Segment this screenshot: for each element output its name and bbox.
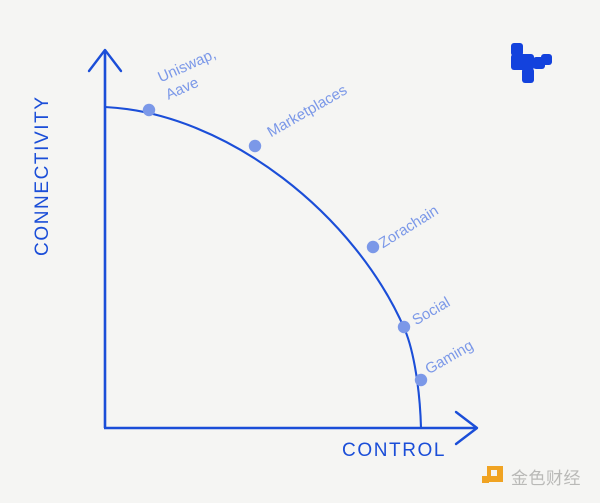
logo-block-5	[522, 68, 534, 83]
data-point	[367, 241, 379, 253]
watermark: 金色财经	[481, 464, 581, 489]
watermark-square-small	[482, 476, 489, 483]
watermark-text: 金色财经	[511, 464, 581, 489]
chart-canvas: CONNECTIVITY CONTROL Uniswap, AaveMarket…	[0, 0, 600, 503]
y-axis-title: CONNECTIVITY	[32, 96, 54, 256]
logo-block-4	[541, 54, 552, 65]
data-point	[249, 140, 261, 152]
data-point	[143, 104, 155, 116]
blocks-logo	[508, 40, 554, 86]
data-point	[398, 321, 410, 333]
data-point	[415, 374, 427, 386]
logo-block-2	[511, 54, 534, 70]
jinse-finance-mark	[481, 465, 504, 488]
x-axis-title: CONTROL	[342, 440, 446, 462]
watermark-notch	[491, 470, 497, 476]
frontier-curve	[105, 107, 421, 428]
